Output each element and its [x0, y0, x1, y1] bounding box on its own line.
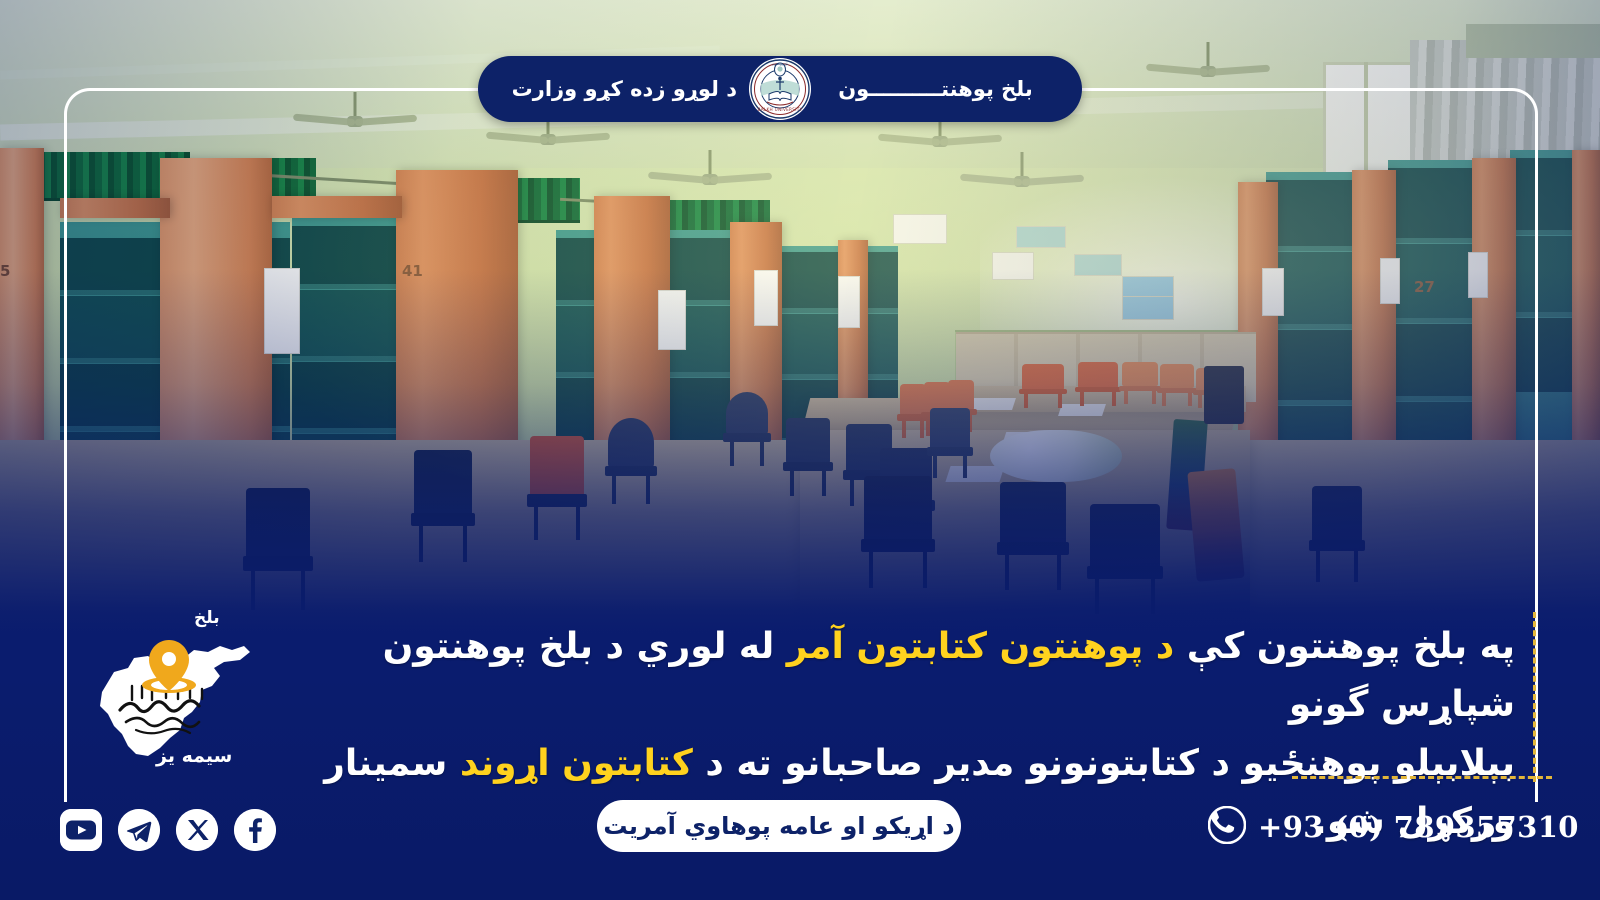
social-links [60, 806, 276, 854]
department-label: د اړيکو او عامه پوهاوي آمريت [603, 812, 954, 840]
line1-seg1: په بلخ پوهنتون کې [1174, 626, 1515, 667]
x-twitter-icon[interactable] [176, 809, 218, 851]
svg-text:بلخ پوهنتون: بلخ پوهنتون [771, 62, 788, 66]
header-bar: بلخ پوهنتــــــــــون BALKH UNIVERSITY ب… [478, 56, 1082, 122]
contact-phone: +93 (0) 789357310 [1208, 805, 1579, 849]
line1-highlight: د پوهنتون کتابتون آمر [787, 626, 1175, 667]
dashed-horizontal-rule [1292, 776, 1552, 779]
map-top-label: بلخ [194, 608, 220, 628]
balkh-university-seal-icon: BALKH UNIVERSITY بلخ پوهنتون [747, 56, 813, 122]
afghanistan-map-logo: بلخ سيمه يز [74, 606, 264, 776]
svg-text:BALKH UNIVERSITY: BALKH UNIVERSITY [758, 107, 803, 112]
poster-canvas: 41 27 5 [0, 0, 1600, 900]
phone-number: +93 (0) 789357310 [1258, 810, 1579, 844]
dashed-vertical-rule [1533, 612, 1536, 782]
telegram-icon[interactable] [118, 809, 160, 851]
facebook-icon[interactable] [234, 809, 276, 851]
line2-highlight: کتابتون اړوند [460, 743, 693, 784]
whatsapp-icon [1208, 806, 1246, 848]
announcement-line-1: په بلخ پوهنتون کې د پوهنتون کتابتون آمر … [290, 618, 1515, 735]
youtube-icon[interactable] [60, 809, 102, 851]
department-badge: د اړيکو او عامه پوهاوي آمريت [597, 800, 961, 852]
ministry-label: د لوړو زده کړو وزارت [512, 77, 737, 101]
map-bottom-label: سيمه يز [156, 745, 232, 767]
university-label: بلخ پوهنتــــــــــون [823, 77, 1048, 101]
